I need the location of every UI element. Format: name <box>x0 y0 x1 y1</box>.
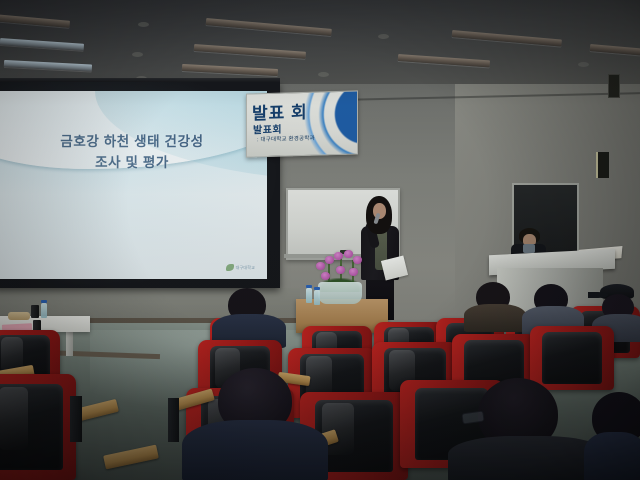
orchid-bloom <box>353 256 362 264</box>
armrest-post <box>70 396 82 442</box>
seat-highlight <box>0 387 28 451</box>
water-bottle <box>41 303 47 318</box>
bottle-cap <box>314 287 320 290</box>
audience-shoulders <box>464 304 526 332</box>
ceiling-vent <box>578 62 589 67</box>
orchid-bloom <box>325 256 334 264</box>
ceiling-vent <box>378 34 389 39</box>
banner-swoosh-icon <box>299 90 358 157</box>
slide-surface: 금호강 하천 생태 건강성 조사 및 평가 대구대학교 <box>0 91 267 279</box>
podium-operator-scarf <box>523 244 535 253</box>
bottle-cap <box>41 300 47 303</box>
cap-brim <box>588 292 608 298</box>
seat-panel <box>542 332 602 384</box>
banner-organization: : 대구대학교 환경공학과 <box>257 134 315 144</box>
slide-title-line-1: 금호강 하천 생태 건강성 <box>0 131 267 152</box>
event-banner: 발표 회 발표회 : 대구대학교 환경공학과 <box>246 90 358 157</box>
slide-title-line-2: 조사 및 평가 <box>0 152 267 173</box>
orchid-pot <box>318 282 362 304</box>
snack-tray <box>8 312 30 320</box>
seat[interactable] <box>530 326 614 390</box>
seat[interactable] <box>0 374 76 480</box>
water-bottle <box>314 290 320 305</box>
audience-shoulders <box>182 420 328 480</box>
orchid-bloom <box>316 262 325 270</box>
water-bottle <box>306 288 312 303</box>
lecture-hall-scene: 금호강 하천 생태 건강성 조사 및 평가 대구대학교 발표 회 발표회 : 대… <box>0 0 640 480</box>
audience-shoulders <box>584 432 640 480</box>
wall-speaker-icon <box>608 74 620 98</box>
slide-title: 금호강 하천 생태 건강성 조사 및 평가 <box>0 131 267 173</box>
orchid-bloom <box>349 268 358 276</box>
leaf-icon <box>226 264 234 271</box>
orchid-bloom <box>334 252 343 260</box>
bottle-cap <box>306 285 312 288</box>
slide-logo-text: 대구대학교 <box>236 265 255 271</box>
orchid-bloom <box>336 266 345 274</box>
ceiling-vent <box>132 52 143 57</box>
projection-screen: 금호강 하천 생태 건강성 조사 및 평가 대구대학교 <box>0 82 280 288</box>
slide-logo: 대구대학교 <box>226 264 255 271</box>
wall-speaker-icon <box>596 152 609 178</box>
orchid-bloom <box>344 250 353 258</box>
armrest-post <box>168 398 179 442</box>
beverage-can <box>31 305 39 318</box>
table-leg <box>66 330 73 356</box>
ceiling-vent <box>318 72 329 77</box>
ceiling-vent <box>138 22 149 27</box>
